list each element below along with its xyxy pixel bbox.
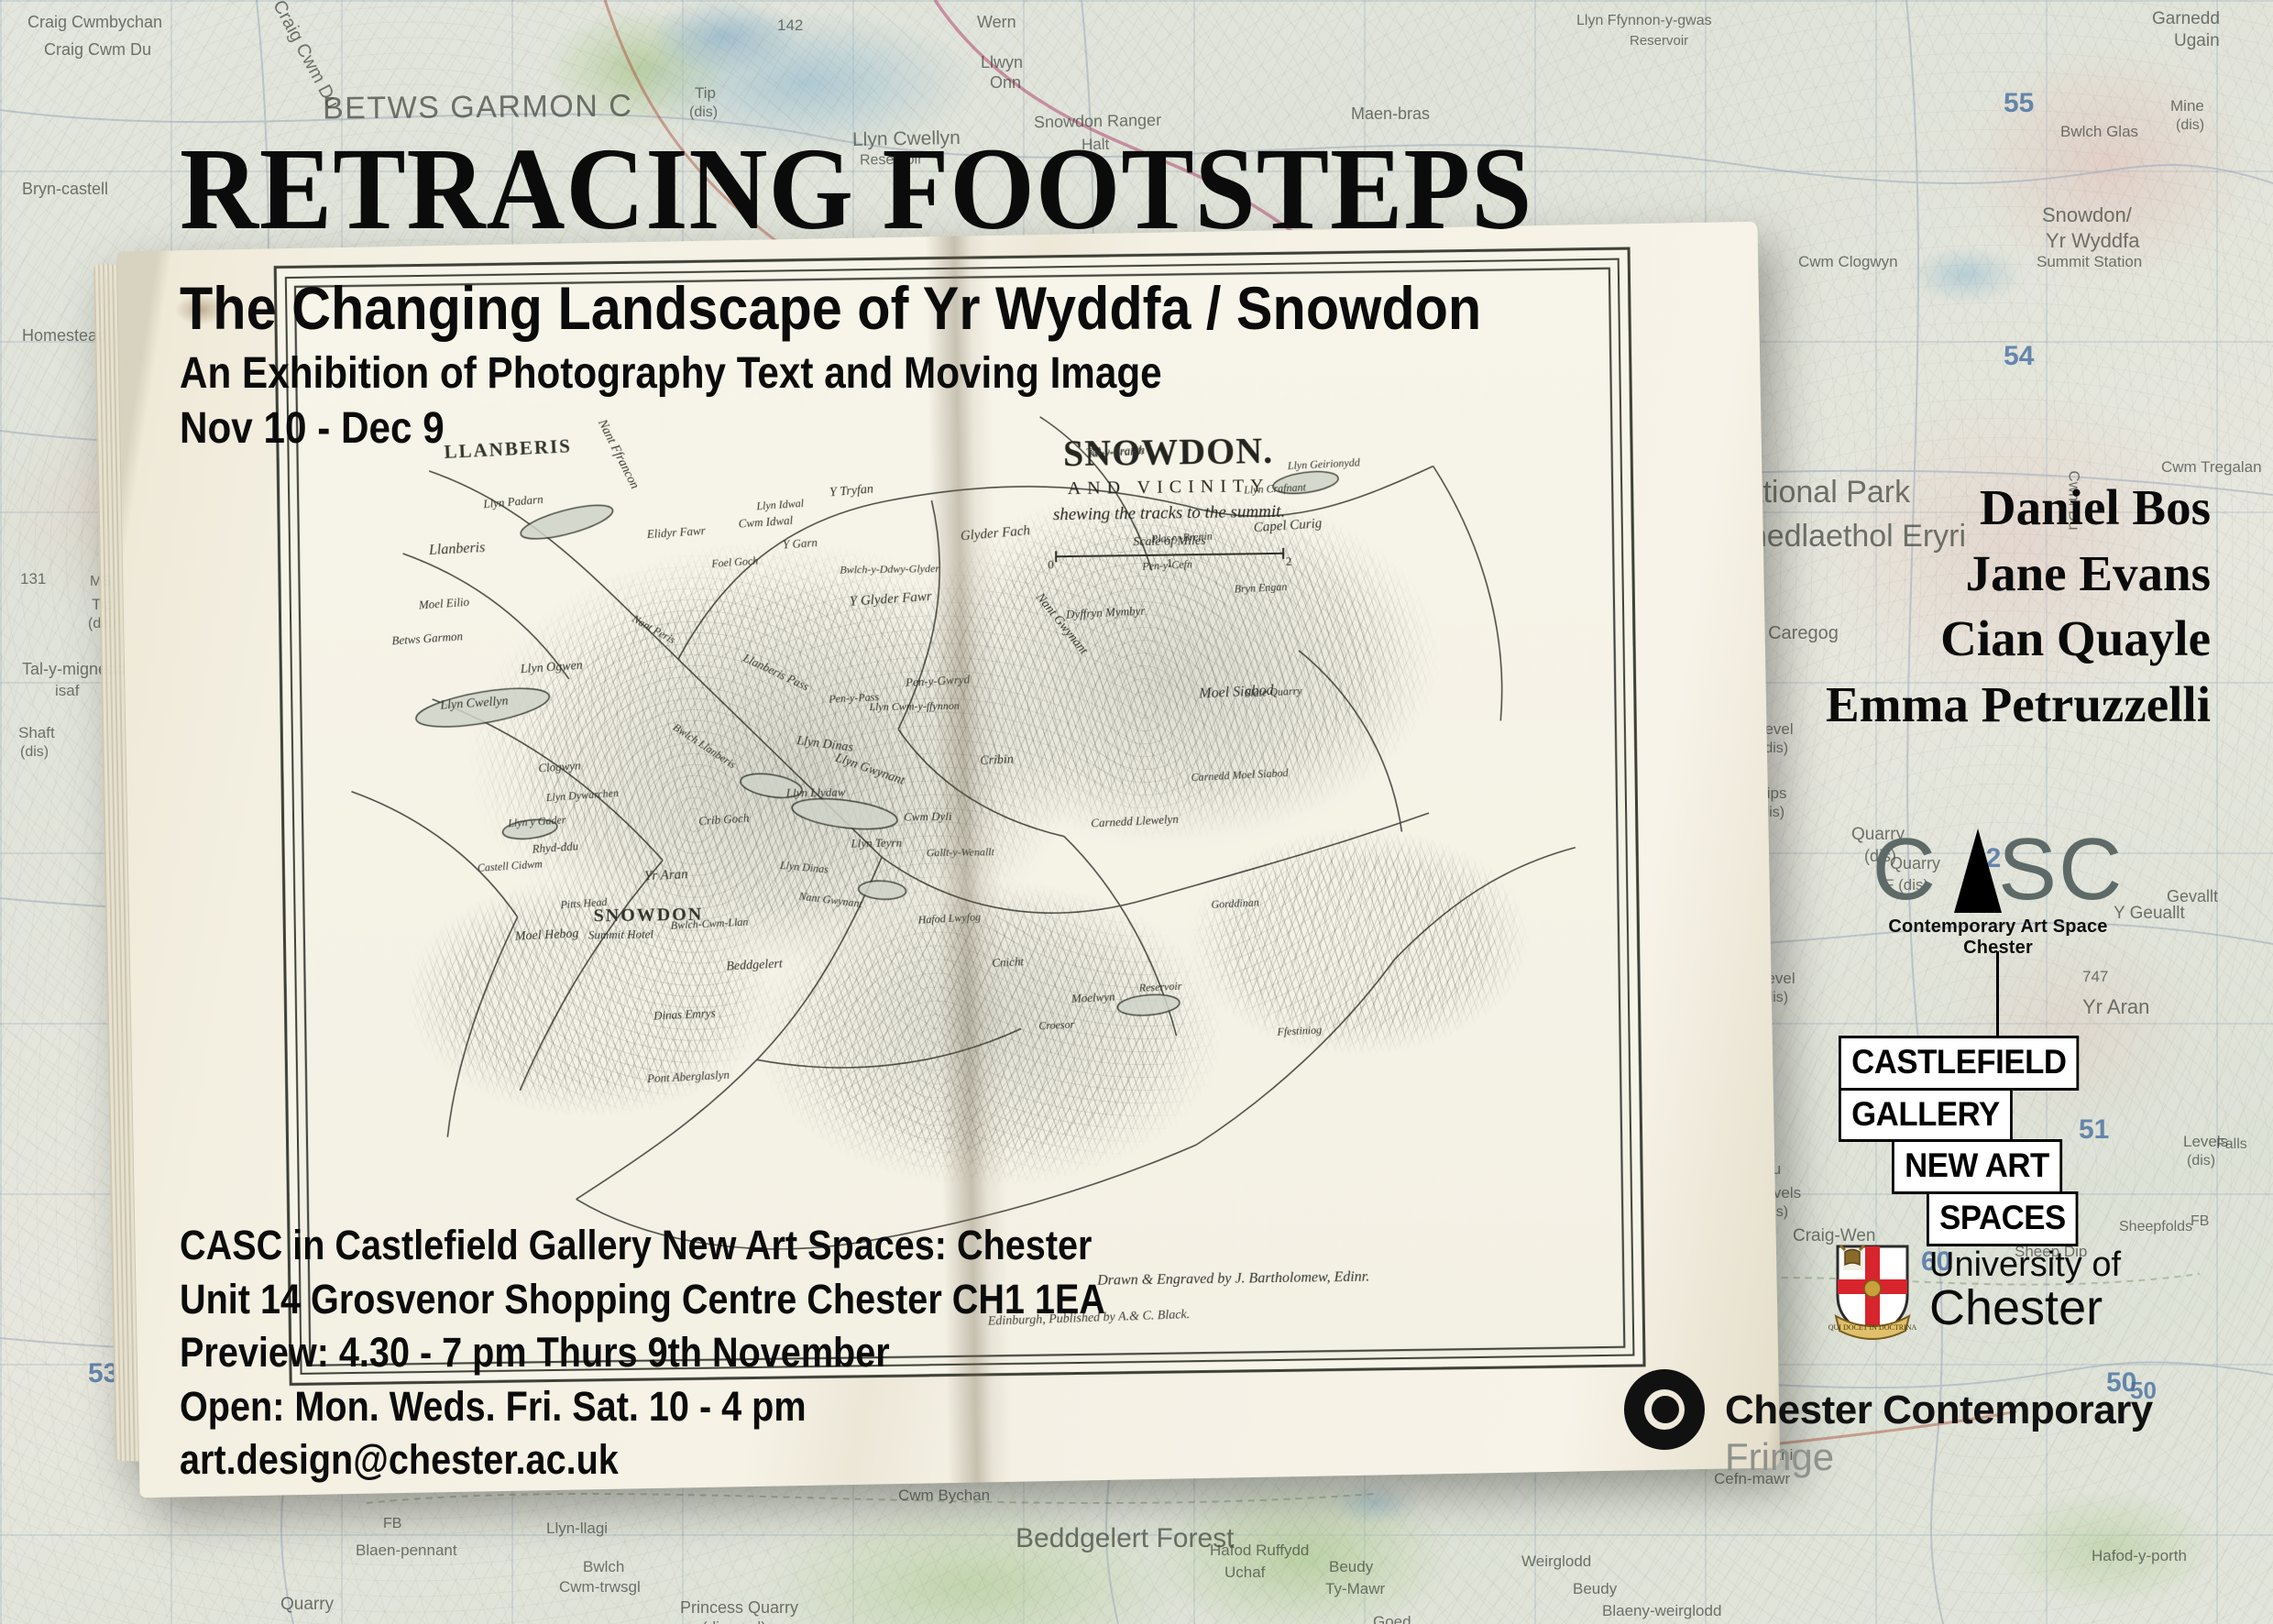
artist-name: Emma Petruzzelli [1826, 672, 2211, 738]
subtitle-block: The Changing Landscape of Yr Wyddfa / Sn… [180, 275, 1626, 455]
poster-description: An Exhibition of Photography Text and Mo… [180, 349, 1453, 400]
venue-line-email[interactable]: art.design@chester.ac.uk [180, 1433, 1105, 1487]
venue-line-opening-hours: Open: Mon. Weds. Fri. Sat. 10 - 4 pm [180, 1380, 1105, 1434]
page-title: RETRACING FOOTSTEPS [180, 136, 1532, 244]
exhibition-poster: BETWS GARMON CCraig Cwm DuSnowdon Ranger… [0, 0, 2273, 1624]
chester-contemporary-c-mark-icon [1620, 1366, 1708, 1454]
scale-tick: 0 [1048, 557, 1054, 572]
casc-letter-c2: C [2059, 820, 2124, 918]
casc-wordmark: CASC [1851, 834, 2145, 905]
logo-university-of-chester[interactable]: QUI DOCET IN DOCTRINA University of Ches… [1828, 1239, 2121, 1342]
map-plate-scale-label: Scale of Miles [977, 532, 1362, 553]
ccf-wordmark: Chester Contemporary Fringe [1725, 1366, 2153, 1479]
chester-motto: QUI DOCET IN DOCTRINA [1828, 1323, 1916, 1332]
artist-name: Cian Quayle [1826, 606, 2211, 672]
casc-letter-c1: C [1872, 820, 1938, 918]
map-plate-caption: shewing the tracks to the summit. [976, 501, 1361, 527]
cg-row-spaces: SPACES [1927, 1191, 2079, 1246]
poster-subtitle: The Changing Landscape of Yr Wyddfa / Sn… [180, 275, 1481, 342]
artist-name: Jane Evans [1826, 541, 2211, 607]
poster-dates: Nov 10 - Dec 9 [180, 404, 1453, 455]
cg-row-castlefield: CASTLEFIELD [1839, 1036, 2080, 1091]
cg-row-gallery: GALLERY [1839, 1088, 2013, 1143]
map-plate-subtitle: AND VICINITY [976, 475, 1361, 501]
venue-line-address: Unit 14 Grosvenor Shopping Centre Cheste… [180, 1273, 1105, 1327]
logo-chester-contemporary-fringe[interactable]: Chester Contemporary Fringe [1620, 1366, 2153, 1479]
scale-tick: 2 [1286, 554, 1292, 569]
ccf-line-fringe: Fringe [1725, 1435, 2153, 1479]
chester-coat-of-arms-icon: QUI DOCET IN DOCTRINA [1828, 1239, 1916, 1342]
venue-line-gallery: CASC in Castlefield Gallery New Art Spac… [180, 1219, 1105, 1273]
logo-casc[interactable]: CASC Contemporary Art Space Chester [1851, 834, 2145, 959]
ccf-line-chester-contemporary: Chester Contemporary [1725, 1388, 2153, 1433]
casc-chevron-a-icon [1954, 828, 2002, 913]
artist-list: Daniel BosJane EvansCian QuayleEmma Petr… [1826, 475, 2211, 737]
venue-line-preview: Preview: 4.30 - 7 pm Thurs 9th November [180, 1326, 1105, 1380]
uoc-line-university-of: University of [1929, 1248, 2121, 1282]
uoc-wordmark: University of Chester [1929, 1248, 2121, 1333]
venue-details-block: CASC in Castlefield Gallery New Art Spac… [180, 1219, 1232, 1487]
scale-tick: 1 [1167, 555, 1173, 570]
uoc-line-chester: Chester [1929, 1284, 2121, 1333]
artist-name: Daniel Bos [1826, 475, 2211, 541]
casc-letter-s: S [1998, 820, 2059, 918]
logo-castlefield-gallery[interactable]: CASTLEFIELD GALLERY NEW ART SPACES [1839, 1036, 2114, 1246]
cg-row-new-art: NEW ART [1892, 1139, 2062, 1194]
